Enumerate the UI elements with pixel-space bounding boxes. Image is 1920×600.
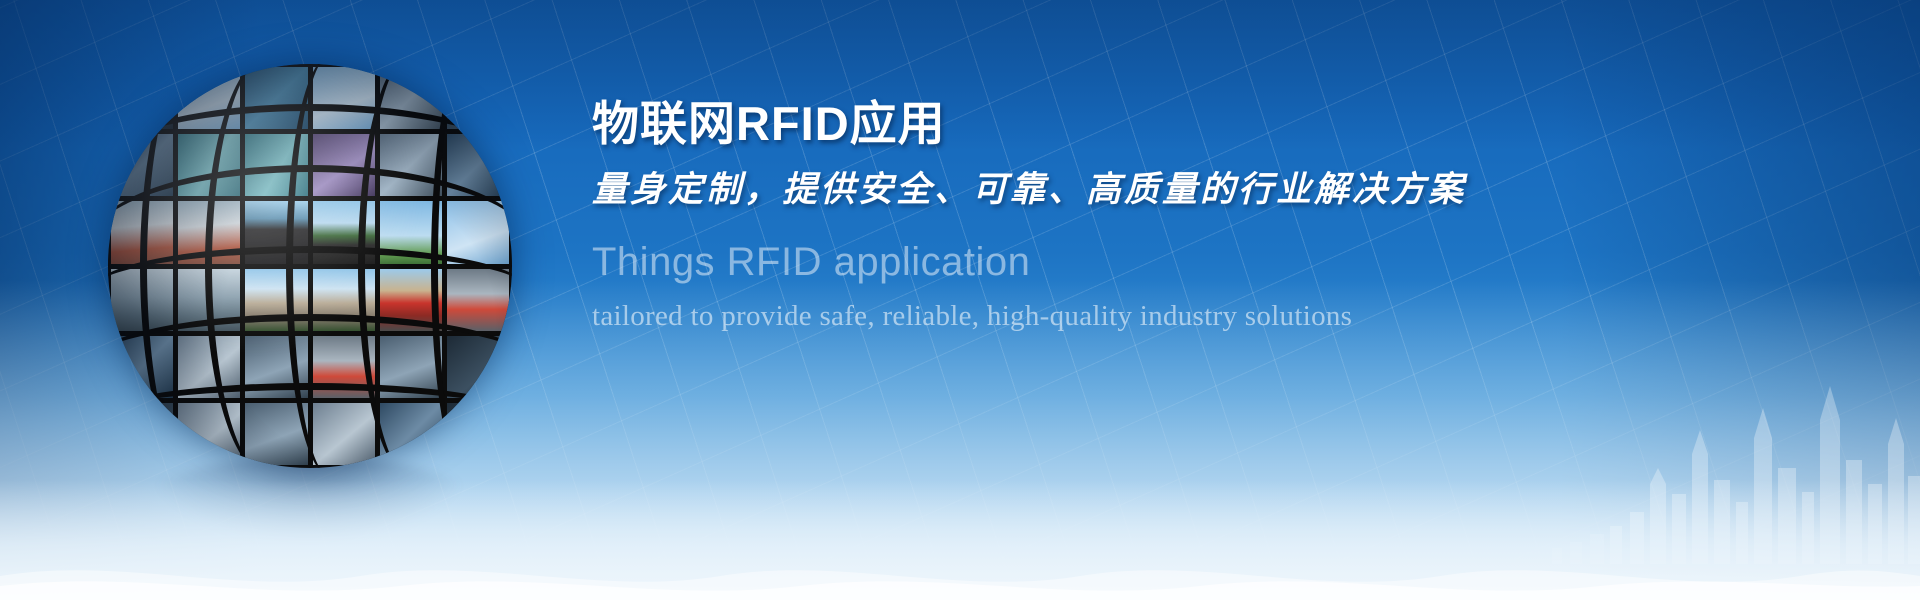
globe-tile [178, 201, 240, 263]
globe-tile [447, 134, 509, 196]
iot-rfid-hero-banner: 物联网RFID应用 量身定制，提供安全、可靠、高质量的行业解决方案 Things… [0, 0, 1920, 600]
globe-tile [245, 201, 307, 263]
globe-tile [313, 67, 375, 129]
globe-tile [178, 269, 240, 331]
globe-tile [245, 403, 307, 465]
banner-title-english: Things RFID application [592, 238, 1592, 286]
horizon-glow [0, 480, 1920, 600]
banner-tagline-english: tailored to provide safe, reliable, high… [592, 298, 1592, 336]
globe-tile [111, 269, 173, 331]
globe-tile [245, 67, 307, 129]
globe-tile [111, 403, 173, 465]
globe-tile [447, 269, 509, 331]
globe-tile [245, 269, 307, 331]
globe-tile [380, 67, 442, 129]
globe-tile [380, 134, 442, 196]
globe-tile [245, 134, 307, 196]
globe-tile [380, 201, 442, 263]
globe-tile [313, 269, 375, 331]
city-skyline-silhouette [1400, 334, 1920, 564]
globe-tile [313, 336, 375, 398]
globe-photo-mosaic [108, 64, 512, 468]
globe-tile [447, 336, 509, 398]
globe-tile [380, 336, 442, 398]
banner-copy: 物联网RFID应用 量身定制，提供安全、可靠、高质量的行业解决方案 Things… [592, 96, 1592, 336]
globe-tile [380, 269, 442, 331]
globe-tile [111, 201, 173, 263]
globe-tile [447, 201, 509, 263]
globe-tile [380, 403, 442, 465]
globe-tile [178, 403, 240, 465]
globe-tile [447, 67, 509, 129]
globe-tile [313, 134, 375, 196]
globe-tile [178, 67, 240, 129]
globe-tile [178, 134, 240, 196]
globe-tile [313, 403, 375, 465]
globe-tile [447, 403, 509, 465]
globe-reflection [148, 456, 470, 542]
iot-globe-graphic [108, 64, 512, 468]
globe-tile [245, 336, 307, 398]
globe-tile [111, 134, 173, 196]
bottom-wave-decoration [0, 540, 1920, 600]
globe-sphere [108, 64, 512, 468]
banner-tagline-chinese: 量身定制，提供安全、可靠、高质量的行业解决方案 [592, 168, 1592, 212]
globe-tile [111, 336, 173, 398]
globe-tile [313, 201, 375, 263]
globe-tile [111, 67, 173, 129]
banner-title-chinese: 物联网RFID应用 [592, 96, 1592, 152]
globe-tile [178, 336, 240, 398]
right-edge-vignette [1560, 0, 1920, 600]
